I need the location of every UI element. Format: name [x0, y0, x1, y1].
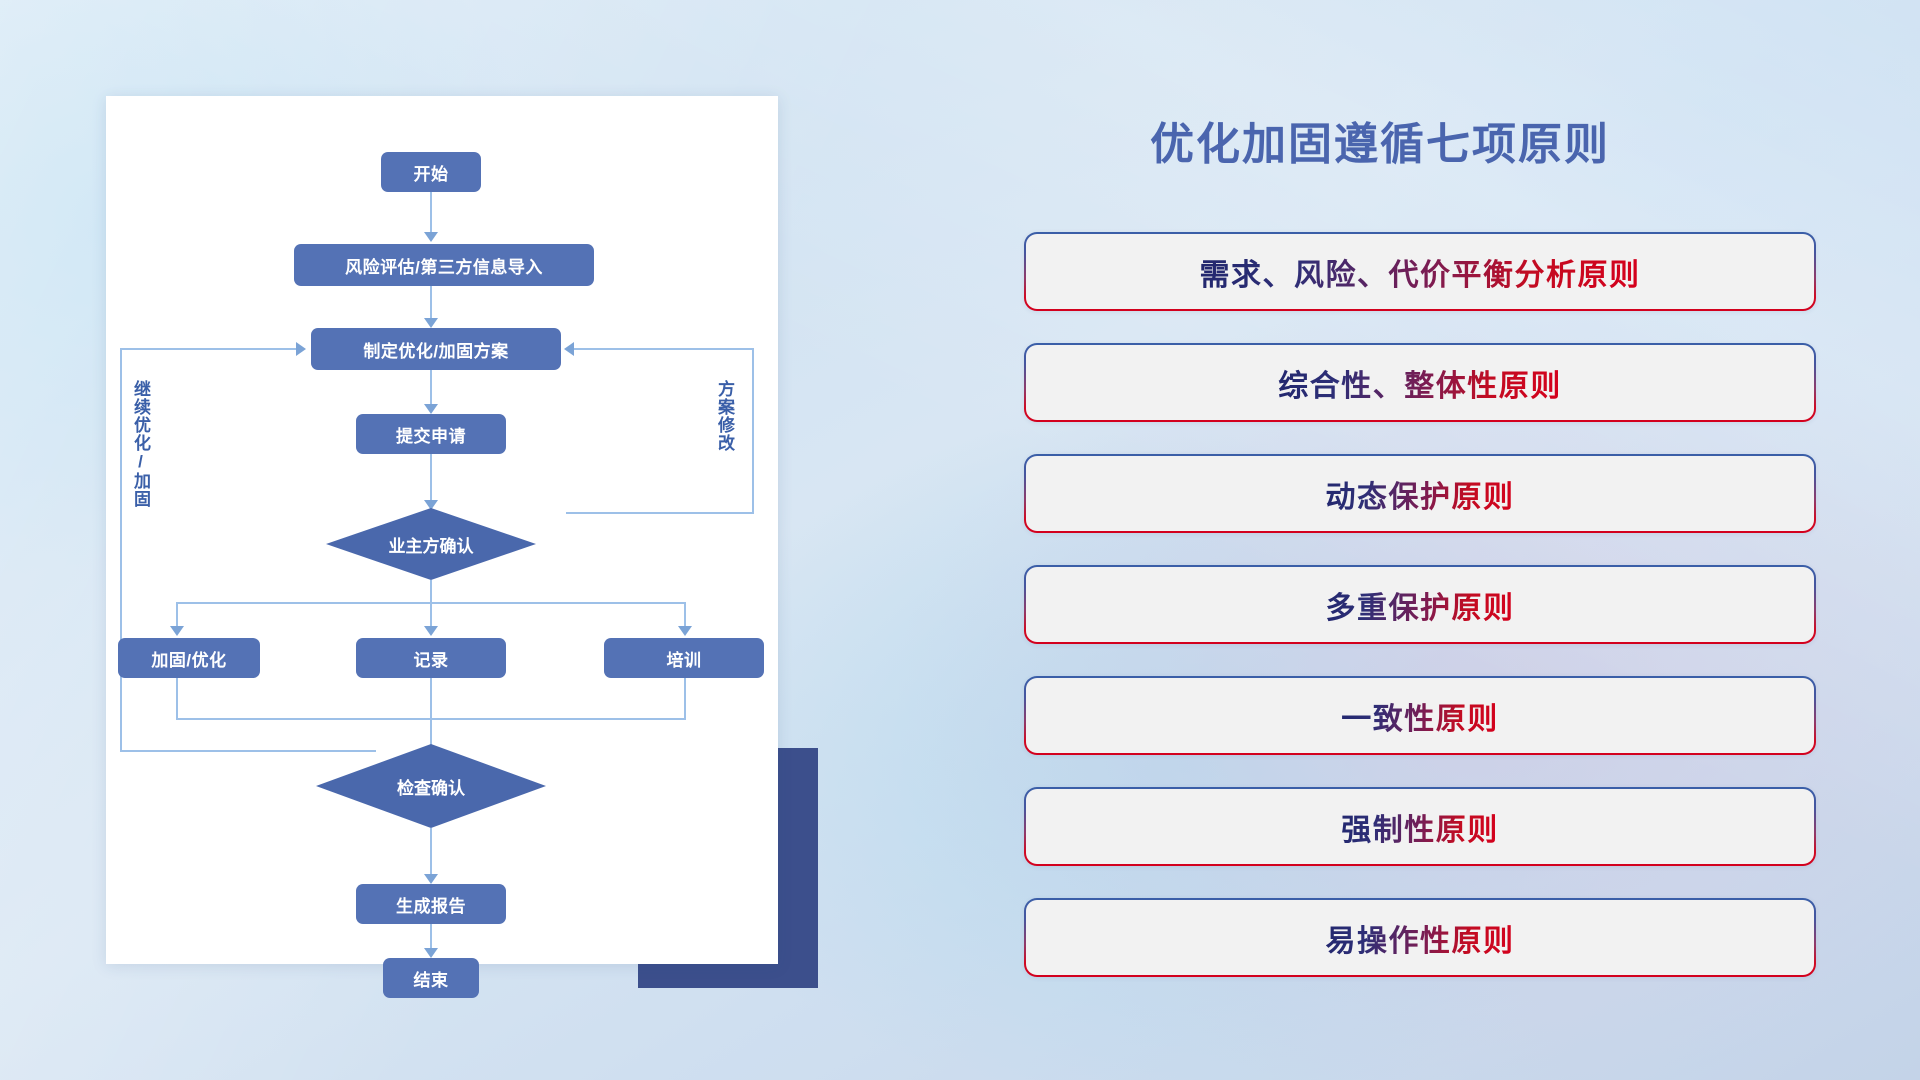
flow-decision-owner-confirm-label: 业主方确认 [389, 532, 474, 557]
principle-card-2[interactable]: 综合性、整体性原则 [1024, 343, 1816, 422]
edge-left-loop-into-plan [120, 348, 298, 350]
flow-node-make-plan[interactable]: 制定优化/加固方案 [311, 328, 561, 370]
flow-decision-inspect-confirm[interactable]: 检查确认 [316, 744, 546, 828]
principles-list: 需求、风险、代价平衡分析原则 综合性、整体性原则 动态保护原则 多重保护原则 一… [1024, 232, 1816, 1009]
edge-confirm-to-bus [430, 580, 432, 604]
principle-card-3[interactable]: 动态保护原则 [1024, 454, 1816, 533]
flow-node-start-label: 开始 [414, 160, 449, 185]
arrowhead-inspect-to-report [424, 874, 438, 884]
principle-card-7-label: 易操作性原则 [1326, 916, 1515, 960]
flow-node-record-label: 记录 [414, 646, 449, 671]
flow-node-training-label: 培训 [667, 646, 702, 671]
edge-label-left-loop: 继续优化/加固 [132, 380, 149, 508]
principle-card-5-label: 一致性原则 [1341, 694, 1499, 738]
flow-node-reinforce-label: 加固/优化 [151, 646, 226, 671]
edge-right-loop-from-confirm [566, 512, 754, 514]
principle-card-7[interactable]: 易操作性原则 [1024, 898, 1816, 977]
flow-node-end-label: 结束 [414, 966, 449, 991]
edge-reinforce-to-bus [176, 678, 178, 720]
arrowhead-bus-to-reinforce [170, 626, 184, 636]
principle-card-3-label: 动态保护原则 [1326, 472, 1515, 516]
arrowhead-bus-to-training [678, 626, 692, 636]
flow-node-risk-assessment[interactable]: 风险评估/第三方信息导入 [294, 244, 594, 286]
principle-card-4[interactable]: 多重保护原则 [1024, 565, 1816, 644]
edge-record-to-bus [430, 678, 432, 720]
arrowhead-plan-to-submit [424, 404, 438, 414]
arrowhead-left-loop-into-plan [296, 342, 306, 356]
edge-submit-to-confirm [430, 454, 432, 506]
flowchart-diagram: 开始 风险评估/第三方信息导入 制定优化/加固方案 [106, 96, 778, 964]
edge-label-right-loop: 方案修改 [716, 380, 733, 452]
flow-node-end[interactable]: 结束 [383, 958, 479, 998]
edge-right-loop-into-plan [574, 348, 754, 350]
principle-card-2-label: 综合性、整体性原则 [1278, 361, 1562, 405]
flow-node-make-plan-label: 制定优化/加固方案 [363, 337, 508, 362]
flow-node-submit-label: 提交申请 [396, 422, 466, 447]
principle-card-5[interactable]: 一致性原则 [1024, 676, 1816, 755]
flow-decision-inspect-confirm-label: 检查确认 [397, 774, 465, 799]
flow-node-start[interactable]: 开始 [381, 152, 481, 192]
slide-canvas: 开始 风险评估/第三方信息导入 制定优化/加固方案 [0, 0, 1920, 1080]
flow-node-record[interactable]: 记录 [356, 638, 506, 678]
principle-card-1[interactable]: 需求、风险、代价平衡分析原则 [1024, 232, 1816, 311]
principle-card-1-label: 需求、风险、代价平衡分析原则 [1200, 250, 1641, 294]
flow-node-generate-report[interactable]: 生成报告 [356, 884, 506, 924]
edge-training-to-bus [684, 678, 686, 720]
principle-card-4-label: 多重保护原则 [1326, 583, 1515, 627]
flow-node-submit[interactable]: 提交申请 [356, 414, 506, 454]
flow-node-training[interactable]: 培训 [604, 638, 764, 678]
arrowhead-risk-to-plan [424, 318, 438, 328]
arrowhead-right-loop-into-plan [564, 342, 574, 356]
arrowhead-report-to-end [424, 948, 438, 958]
edge-left-loop-vertical [120, 349, 122, 752]
arrowhead-bus-to-record [424, 626, 438, 636]
edge-inspect-to-report [430, 828, 432, 880]
principle-card-6-label: 强制性原则 [1341, 805, 1499, 849]
arrowhead-start-to-risk [424, 232, 438, 242]
flow-node-reinforce[interactable]: 加固/优化 [118, 638, 260, 678]
principle-card-6[interactable]: 强制性原则 [1024, 787, 1816, 866]
flow-node-generate-report-label: 生成报告 [396, 892, 466, 917]
page-title: 优化加固遵循七项原则 [1150, 108, 1610, 172]
edge-right-loop-vertical [752, 348, 754, 514]
flowchart-card: 开始 风险评估/第三方信息导入 制定优化/加固方案 [106, 96, 778, 964]
flow-decision-owner-confirm[interactable]: 业主方确认 [326, 508, 536, 580]
flow-node-risk-assessment-label: 风险评估/第三方信息导入 [345, 253, 543, 278]
